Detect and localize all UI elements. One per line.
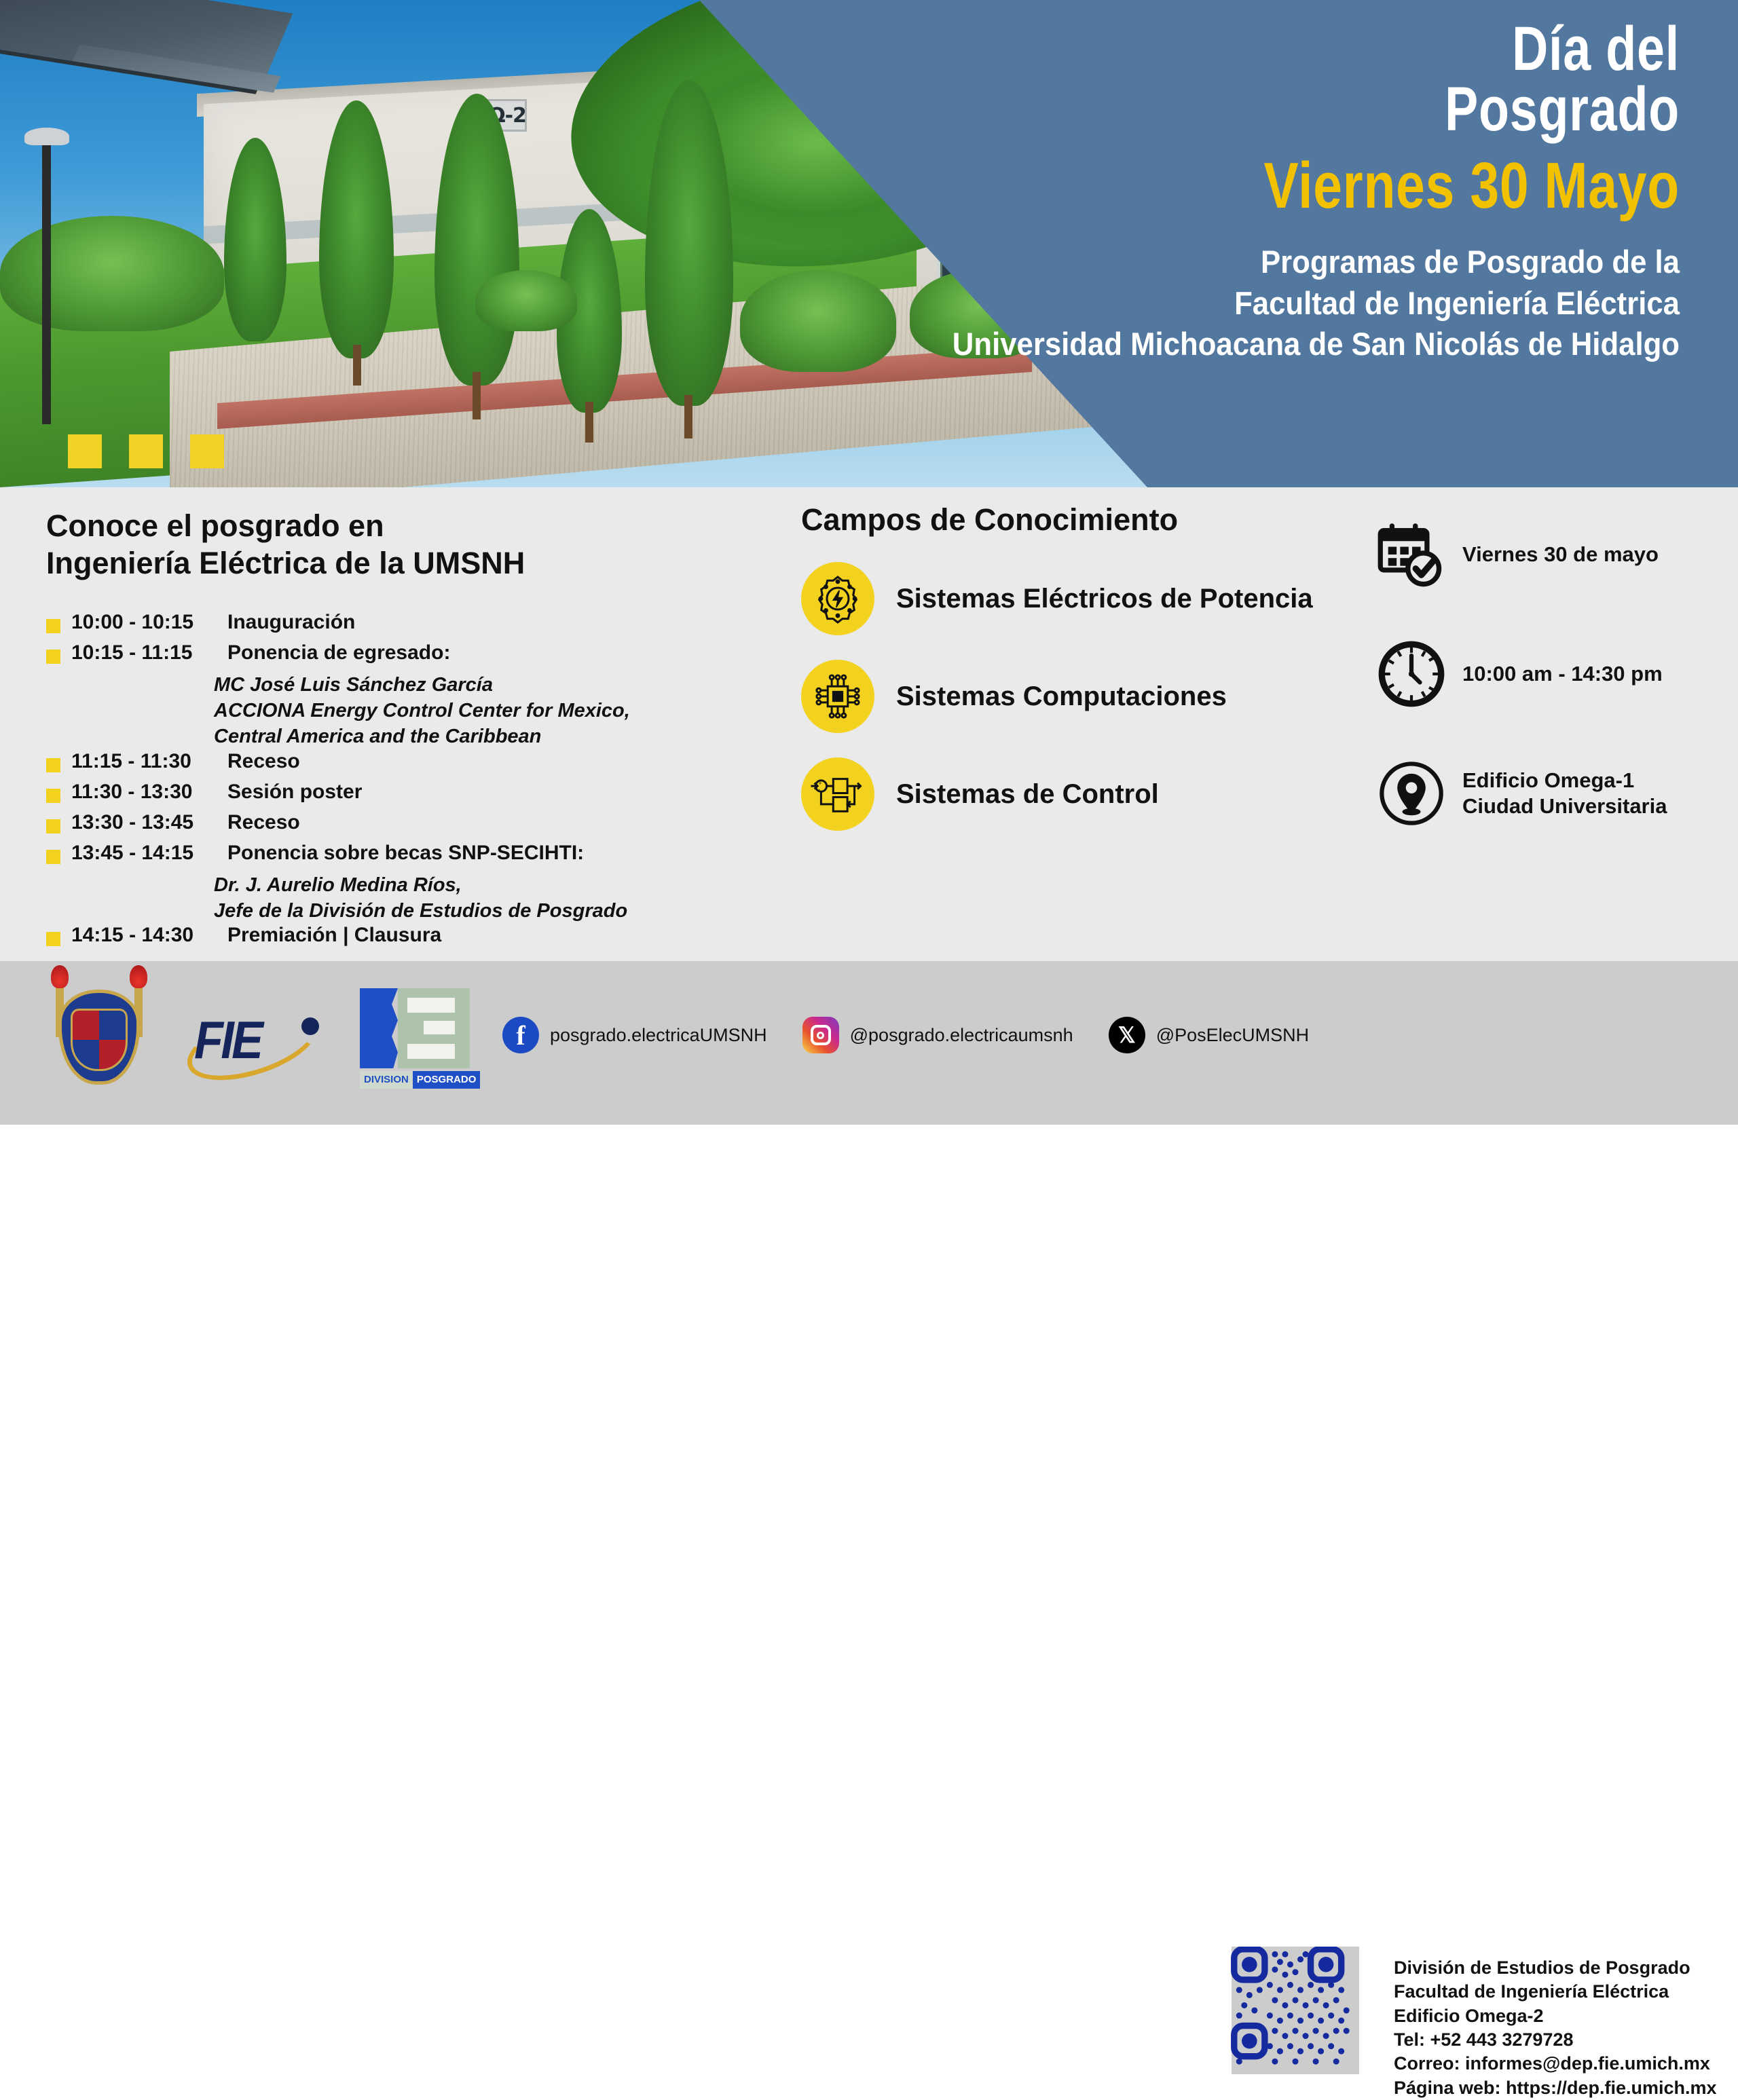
program-heading-line1: Conoce el posgrado en	[46, 508, 745, 545]
shrub	[475, 270, 577, 331]
fields-column: Campos de Conocimiento Sistemas Eléctric…	[801, 502, 1399, 831]
schedule-time: 11:30 - 13:30	[71, 781, 227, 804]
event-location-line1: Edificio Omega-1	[1462, 768, 1667, 793]
schedule-detail: Central America and the Caribbean	[214, 724, 745, 749]
field-label: Sistemas de Control	[896, 779, 1159, 810]
event-time-text: 10:00 am - 14:30 pm	[1462, 661, 1663, 687]
svg-text:-: -	[819, 787, 821, 793]
control-block-diagram-icon: + -	[801, 757, 874, 831]
schedule-description: Premiación | Clausura	[227, 924, 441, 947]
schedule-time: 13:30 - 13:45	[71, 811, 227, 834]
yellow-accent-square	[190, 434, 224, 468]
footer-social-links: f posgrado.electricaUMSNH @posgrado.elec…	[502, 1017, 1328, 1053]
clock-icon	[1371, 634, 1452, 714]
footer-logos: FIE DIVISION POSGRADO	[48, 979, 470, 1100]
lamp-head	[24, 128, 69, 145]
schedule-detail: MC José Luis Sánchez García	[214, 672, 745, 698]
schedule-time: 13:45 - 14:15	[71, 842, 227, 865]
ie-logo-caption-division: DIVISION	[360, 1071, 413, 1089]
contact-line: Página web: https://dep.fie.umich.mx	[1394, 2076, 1717, 2100]
schedule-list: 10:00 - 10:15Inauguración10:15 - 11:15Po…	[46, 611, 745, 947]
schedule-description: Receso	[227, 750, 300, 773]
schedule-detail: Dr. J. Aurelio Medina Ríos,	[214, 872, 745, 898]
bullet-square-icon	[46, 650, 60, 664]
hero-subtitle-line2: Facultad de Ingeniería Eléctrica	[695, 283, 1680, 324]
event-info-time: 10:00 am - 14:30 pm	[1371, 634, 1724, 714]
tree-trunk	[353, 345, 361, 386]
schedule-description: Ponencia de egresado:	[227, 641, 450, 664]
contact-line: Tel: +52 443 3279728	[1394, 2028, 1717, 2052]
instagram-handle[interactable]: @posgrado.electricaumsnh	[850, 1025, 1073, 1046]
hero-title-line1: Día del	[832, 19, 1680, 79]
main-content: Conoce el posgrado en Ingeniería Eléctri…	[0, 487, 1738, 961]
yellow-accent-square	[129, 434, 163, 468]
facebook-handle[interactable]: posgrado.electricaUMSNH	[550, 1025, 767, 1046]
qr-code[interactable]	[1230, 1947, 1361, 2074]
event-info-column: Viernes 30 de mayo 10:00 am - 14:30 pm	[1371, 514, 1724, 873]
bullet-square-icon	[46, 789, 60, 803]
schedule-time: 14:15 - 14:30	[71, 924, 227, 947]
social-instagram[interactable]: @posgrado.electricaumsnh	[802, 1017, 1073, 1053]
schedule-description: Ponencia sobre becas SNP-SECIHTI:	[227, 842, 584, 865]
fie-logo: FIE	[189, 1001, 322, 1077]
event-location-line2: Ciudad Universitaria	[1462, 793, 1667, 819]
schedule-row: 10:00 - 10:15Inauguración	[46, 611, 745, 634]
facebook-icon[interactable]: f	[502, 1017, 539, 1053]
schedule-row: 13:30 - 13:45Receso	[46, 811, 745, 834]
x-handle[interactable]: @PosElecUMSNH	[1156, 1025, 1309, 1046]
schedule-row: 13:45 - 14:15Ponencia sobre becas SNP-SE…	[46, 842, 745, 865]
svg-text:+: +	[819, 781, 822, 787]
schedule-row: 14:15 - 14:30Premiación | Clausura	[46, 924, 745, 947]
x-twitter-icon[interactable]: 𝕏	[1109, 1017, 1145, 1053]
gear-bolt-icon	[801, 562, 874, 635]
umsnh-seal-logo	[48, 979, 151, 1100]
fie-logo-text: FIE	[194, 1009, 261, 1071]
field-item-control-systems: + - Sistemas de Control	[801, 757, 1399, 831]
hero-date-headline: Viernes 30 Mayo	[832, 153, 1680, 219]
contact-line: Edificio Omega-2	[1394, 2004, 1717, 2028]
tree-trunk	[585, 402, 593, 443]
shrub	[0, 216, 224, 331]
ie-division-posgrado-logo: DIVISION POSGRADO	[360, 988, 470, 1090]
schedule-detail: ACCIONA Energy Control Center for Mexico…	[214, 698, 745, 724]
schedule-time: 10:00 - 10:15	[71, 611, 227, 634]
ie-logo-caption-posgrado: POSGRADO	[413, 1071, 481, 1089]
hero-title-line2: Posgrado	[832, 79, 1680, 140]
bullet-square-icon	[46, 758, 60, 772]
event-info-date: Viernes 30 de mayo	[1371, 514, 1724, 595]
schedule-row: 11:15 - 11:30Receso	[46, 750, 745, 773]
contact-line: División de Estudios de Posgrado	[1394, 1956, 1717, 1980]
tree-trunk	[473, 372, 481, 419]
bullet-square-icon	[46, 850, 60, 864]
hero-subtitle-line3: Universidad Michoacana de San Nicolás de…	[695, 324, 1680, 364]
event-location-block: Edificio Omega-1 Ciudad Universitaria	[1452, 768, 1667, 819]
schedule-row: 11:30 - 13:30Sesión poster	[46, 781, 745, 804]
schedule-time: 10:15 - 11:15	[71, 641, 227, 664]
bullet-square-icon	[46, 619, 60, 633]
field-item-power-systems: Sistemas Eléctricos de Potencia	[801, 562, 1399, 635]
fields-heading: Campos de Conocimiento	[801, 502, 1399, 538]
social-facebook[interactable]: f posgrado.electricaUMSNH	[502, 1017, 767, 1053]
schedule-row: 10:15 - 11:15Ponencia de egresado:	[46, 641, 745, 664]
lamp-post	[42, 139, 51, 424]
schedule-time: 11:15 - 11:30	[71, 750, 227, 773]
schedule-description: Receso	[227, 811, 300, 834]
field-item-computing-systems: Sistemas Computaciones	[801, 660, 1399, 733]
schedule-detail: Jefe de la División de Estudios de Posgr…	[214, 898, 745, 924]
bullet-square-icon	[46, 932, 60, 946]
program-column: Conoce el posgrado en Ingeniería Eléctri…	[46, 508, 745, 954]
program-heading-line2: Ingeniería Eléctrica de la UMSNH	[46, 545, 745, 582]
field-label: Sistemas Computaciones	[896, 681, 1227, 712]
footer-contact-block: División de Estudios de PosgradoFacultad…	[1394, 1956, 1717, 2100]
hero-banner: Ω-2 Ω-2 Día del Posgrado Viernes 30 Mayo	[0, 0, 1738, 487]
contact-line: Facultad de Ingeniería Eléctrica	[1394, 1980, 1717, 2004]
schedule-description: Sesión poster	[227, 781, 362, 804]
hero-text-block: Día del Posgrado Viernes 30 Mayo Program…	[621, 19, 1680, 364]
tree-trunk	[684, 395, 692, 438]
hero-subtitle-line1: Programas de Posgrado de la	[695, 242, 1680, 282]
map-pin-icon	[1371, 753, 1452, 833]
event-date-text: Viernes 30 de mayo	[1462, 542, 1659, 567]
contact-line: Correo: informes@dep.fie.umich.mx	[1394, 2052, 1717, 2076]
field-label: Sistemas Eléctricos de Potencia	[896, 584, 1313, 614]
calendar-check-icon	[1371, 514, 1452, 595]
microchip-icon	[801, 660, 874, 733]
event-info-location: Edificio Omega-1 Ciudad Universitaria	[1371, 753, 1724, 833]
schedule-description: Inauguración	[227, 611, 355, 634]
bullet-square-icon	[46, 819, 60, 833]
social-x[interactable]: 𝕏 @PosElecUMSNH	[1109, 1017, 1309, 1053]
instagram-icon[interactable]	[802, 1017, 839, 1053]
footer-bar: FIE DIVISION POSGRADO f posgrado.electri…	[0, 961, 1738, 1125]
yellow-accent-square	[68, 434, 102, 468]
